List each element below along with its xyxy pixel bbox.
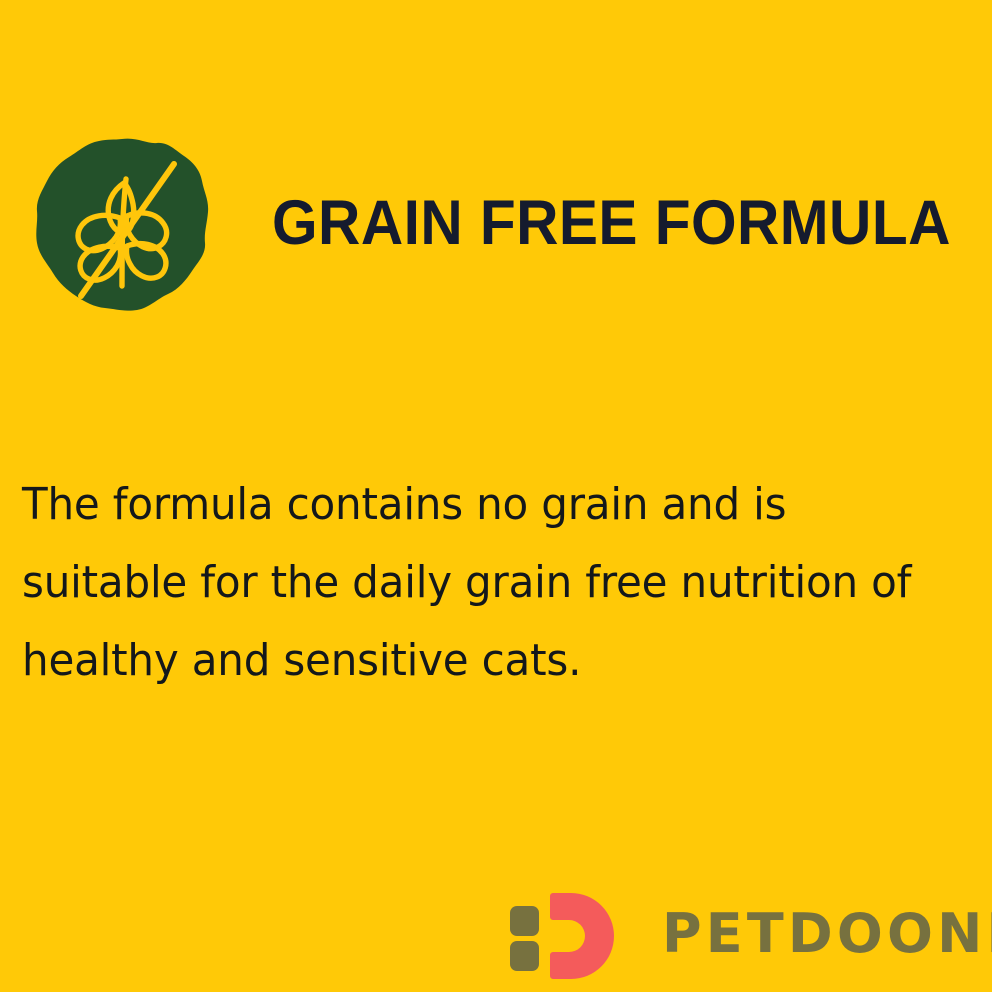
- header-row: GRAIN FREE FORMULA: [0, 132, 992, 322]
- petdooni-mark-icon: [505, 893, 642, 979]
- grain-free-formula-card: GRAIN FREE FORMULA The formula contains …: [0, 0, 992, 992]
- brand-wordmark: PETDOONI: [662, 903, 992, 965]
- page-title: GRAIN FREE FORMULA: [272, 190, 951, 256]
- grain-free-badge-icon: [34, 136, 210, 314]
- brand-logo: PETDOONI: [505, 893, 992, 979]
- description-text: The formula contains no grain and is sui…: [22, 466, 934, 700]
